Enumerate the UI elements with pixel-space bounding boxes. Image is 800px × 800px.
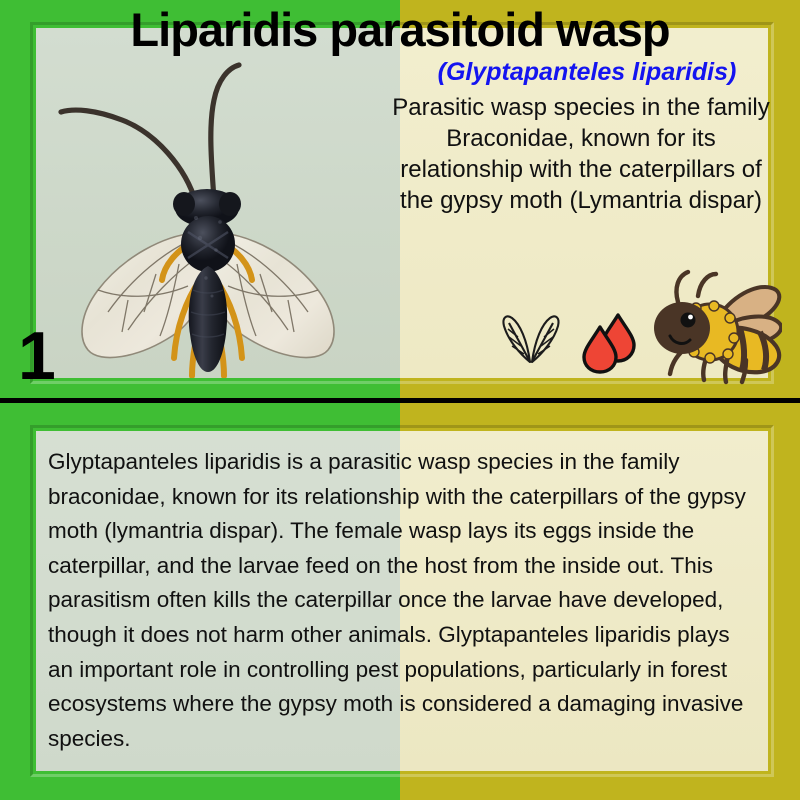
blood-drops-icon [580, 312, 638, 374]
page-title: Liparidis parasitoid wasp [0, 2, 800, 58]
icon-row [492, 268, 792, 388]
description-text: Glyptapanteles liparidis is a parasitic … [48, 445, 754, 756]
description-card: Glyptapanteles liparidis is a parasitic … [36, 431, 768, 771]
bottom-panel: Glyptapanteles liparidis is a parasitic … [0, 403, 800, 800]
photo-background [36, 28, 400, 378]
card-number-badge: 1 [18, 322, 56, 390]
wasp-photograph [36, 28, 400, 378]
species-info-card: Liparidis parasitoid wasp (Glyptapantele… [0, 0, 800, 800]
insect-wings-icon [500, 310, 562, 366]
bee-icon [648, 268, 782, 386]
panel-divider [0, 398, 800, 403]
summary-text: Parasitic wasp species in the family Bra… [390, 92, 772, 216]
top-panel: Liparidis parasitoid wasp (Glyptapantele… [0, 0, 800, 398]
scientific-name: (Glyptapanteles liparidis) [392, 58, 782, 87]
